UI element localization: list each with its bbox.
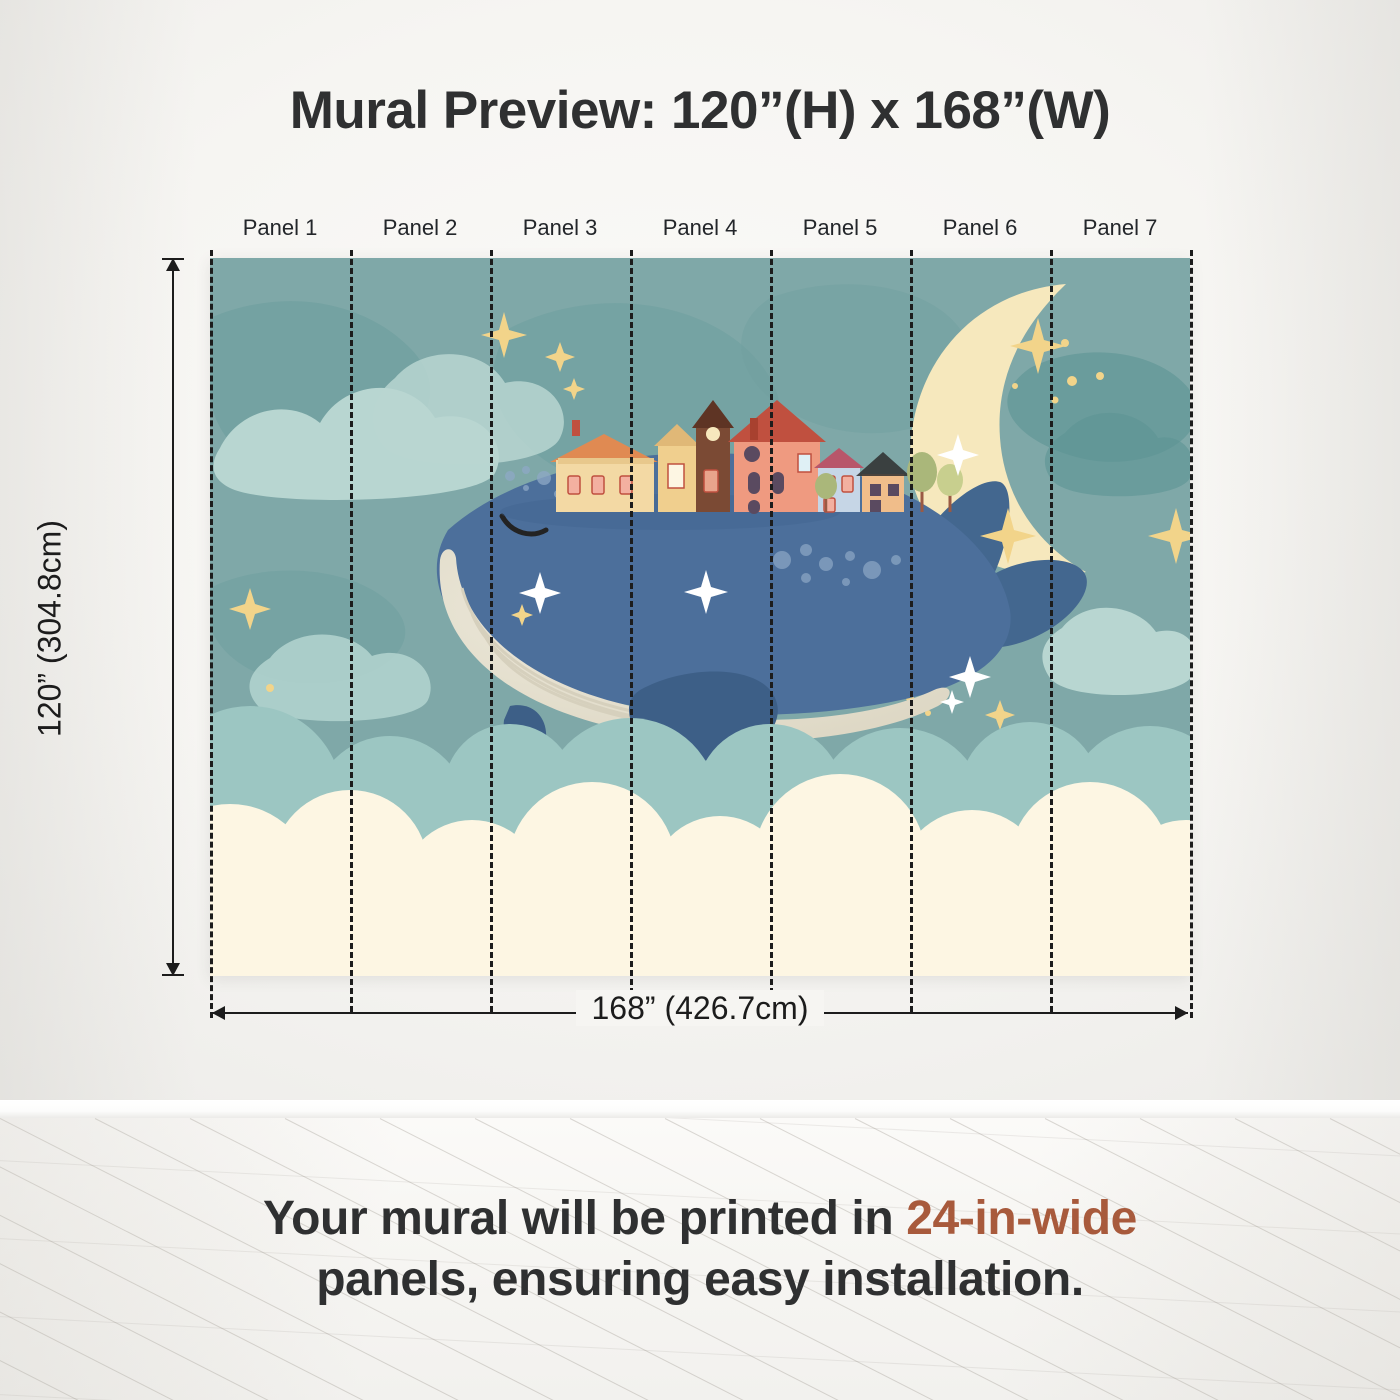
- page-title: Mural Preview: 120”(H) x 168”(W): [0, 80, 1400, 141]
- mural-illustration: [210, 258, 1190, 976]
- height-tick-bottom: [162, 974, 184, 976]
- mural-edge-right: [1190, 250, 1193, 1018]
- panel-divider-3: [630, 250, 633, 1012]
- mural-artwork: [210, 258, 1190, 976]
- panel-divider-6: [1050, 250, 1053, 1012]
- panel-label-7: Panel 7: [1050, 214, 1190, 242]
- panel-divider-5: [910, 250, 913, 1012]
- panel-label-1: Panel 1: [210, 214, 350, 242]
- footer-text-before: Your mural will be printed in: [263, 1192, 906, 1245]
- width-dimension-text: 168” (426.7cm): [576, 990, 825, 1026]
- panel-label-5: Panel 5: [770, 214, 910, 242]
- baseboard: [0, 1100, 1400, 1120]
- height-dimension-arrow: [172, 258, 174, 976]
- panel-label-6: Panel 6: [910, 214, 1050, 242]
- mural-edge-left: [210, 250, 213, 1018]
- footer-line-1: Your mural will be printed in 24-in-wide: [0, 1188, 1400, 1249]
- width-dimension-label: 168” (426.7cm): [0, 990, 1400, 1027]
- panel-label-2: Panel 2: [350, 214, 490, 242]
- footer-accent-text: 24-in-wide: [906, 1192, 1137, 1245]
- panel-divider-4: [770, 250, 773, 1012]
- panel-label-4: Panel 4: [630, 214, 770, 242]
- height-tick-top: [162, 258, 184, 260]
- panel-divider-1: [350, 250, 353, 1012]
- footer-line-2: panels, ensuring easy installation.: [0, 1249, 1400, 1310]
- panel-label-3: Panel 3: [490, 214, 630, 242]
- mural-preview-scene: Mural Preview: 120”(H) x 168”(W) Panel 1…: [0, 0, 1400, 1400]
- height-dimension-label: 120” (304.8cm): [32, 464, 69, 794]
- footer-caption: Your mural will be printed in 24-in-wide…: [0, 1188, 1400, 1311]
- panel-divider-2: [490, 250, 493, 1012]
